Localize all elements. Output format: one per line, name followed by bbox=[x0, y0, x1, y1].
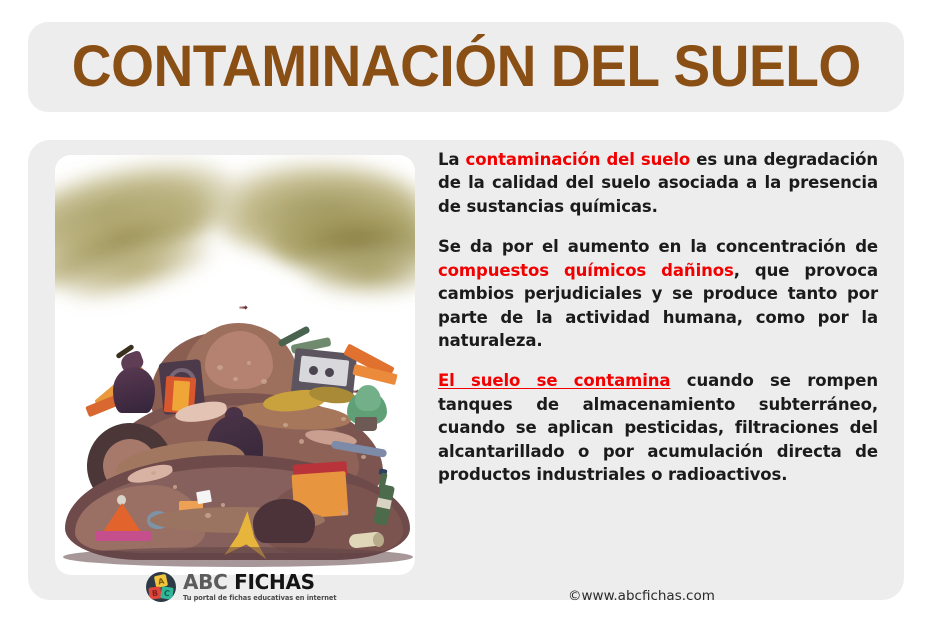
abc-logo-icon: A B C bbox=[146, 572, 176, 602]
paragraph-1: La contaminación del suelo es una degrad… bbox=[438, 148, 878, 218]
logo-tagline: Tu portal de fichas educativas en intern… bbox=[183, 595, 336, 602]
illustration-card: ➟ ➟ ➟ bbox=[55, 155, 415, 575]
site-credit: ©www.abcfichas.com bbox=[568, 588, 715, 604]
plant-icon bbox=[355, 385, 381, 411]
garbage-bag-icon bbox=[253, 499, 315, 543]
logo-text-block: ABC FICHAS Tu portal de fichas educativa… bbox=[183, 572, 336, 602]
ground-shadow bbox=[63, 547, 413, 567]
logo-word-fichas: FICHAS bbox=[234, 570, 315, 594]
paper-scrap-icon bbox=[196, 490, 212, 504]
debris-speck bbox=[283, 423, 288, 427]
paragraph-3: El suelo se contamina cuando se rompen t… bbox=[438, 369, 878, 486]
bird-icon: ➟ bbox=[239, 303, 248, 314]
paragraph-2: Se da por el aumento en la concentración… bbox=[438, 235, 878, 352]
logo-word-abc: ABC bbox=[183, 570, 234, 594]
article-text-column: La contaminación del suelo es una degrad… bbox=[438, 148, 878, 503]
highlighted-term: compuestos químicos dañinos bbox=[438, 261, 734, 280]
debris-speck bbox=[341, 417, 346, 421]
logo-letter-c: C bbox=[160, 586, 174, 600]
debris-speck bbox=[217, 365, 223, 370]
cone-tip bbox=[117, 495, 126, 505]
page-title: CONTAMINACIÓN DEL SUELO bbox=[71, 38, 860, 96]
debris-speck bbox=[233, 377, 238, 381]
traffic-cone-base bbox=[95, 531, 151, 541]
highlighted-underlined-term: El suelo se contamina bbox=[438, 371, 670, 390]
body-text: Se da por el aumento en la concentración… bbox=[438, 237, 878, 256]
debris-speck bbox=[261, 379, 267, 384]
plant-pot-icon bbox=[355, 417, 377, 431]
logo-letter-b: B bbox=[148, 586, 161, 599]
debris-speck bbox=[247, 361, 251, 365]
title-bar: CONTAMINACIÓN DEL SUELO bbox=[28, 22, 904, 112]
smoke-cloud-icon bbox=[305, 250, 415, 295]
debris-speck bbox=[205, 513, 211, 518]
debris-speck bbox=[341, 511, 346, 515]
main-panel: ➟ ➟ ➟ bbox=[28, 140, 904, 600]
debris-speck bbox=[299, 439, 304, 444]
highlighted-term: contaminación del suelo bbox=[466, 150, 691, 169]
garbage-pile-illustration: ➟ ➟ ➟ bbox=[55, 155, 415, 575]
radio-face bbox=[299, 356, 349, 387]
abc-fichas-logo[interactable]: A B C ABC FICHAS Tu portal de fichas edu… bbox=[146, 572, 336, 602]
debris-speck bbox=[221, 503, 225, 507]
debris-speck bbox=[361, 455, 366, 459]
logo-wordmark: ABC FICHAS bbox=[183, 572, 336, 592]
garbage-bag-icon bbox=[113, 367, 155, 413]
debris-speck bbox=[173, 485, 177, 489]
body-text: La bbox=[438, 150, 466, 169]
debris-speck bbox=[151, 471, 156, 475]
infographic-page: CONTAMINACIÓN DEL SUELO ➟ ➟ ➟ bbox=[0, 0, 930, 620]
